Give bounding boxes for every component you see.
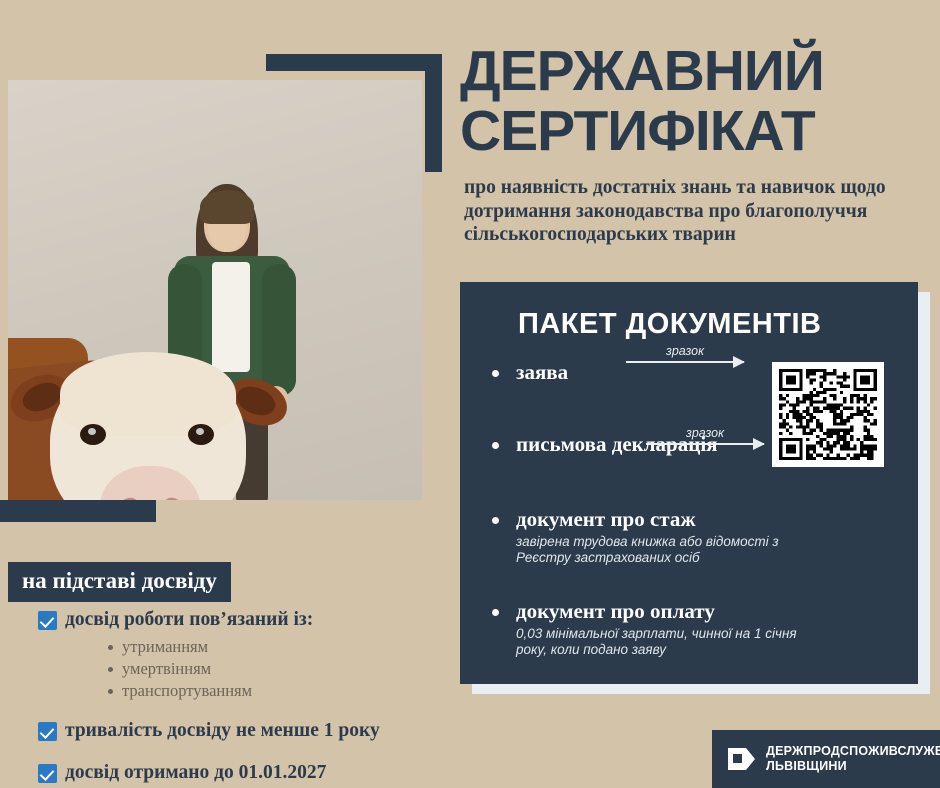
list-item: документ про оплату 0,03 мінімальної зар…	[482, 600, 900, 658]
qr-code[interactable]	[772, 362, 884, 467]
list-item: утриманням	[106, 637, 458, 657]
footer-logo-text: ДЕРЖПРОДСПОЖИВСЛУЖБА ЛЬВІВЩИНИ	[766, 744, 940, 775]
checkbox-checked-icon[interactable]	[38, 722, 57, 741]
document-note: завірена трудова книжка або відомості з …	[516, 534, 816, 567]
bullet-icon	[492, 370, 499, 377]
bullet-icon	[492, 517, 499, 524]
bullet-icon	[492, 609, 499, 616]
checklist-label: досвід отримано до 01.01.2027	[65, 761, 326, 784]
experience-heading: на підставі досвіду	[8, 562, 231, 602]
title-block: ДЕРЖАВНИЙ СЕРТИФІКАТ про наявність доста…	[460, 44, 922, 247]
checklist-item[interactable]: тривалість досвіду не менше 1 року	[38, 719, 458, 742]
sample-arrow-application: зразок	[626, 344, 744, 363]
hero-photo	[8, 80, 422, 500]
title-subtitle: про наявність достатніх знань та навичок…	[464, 176, 922, 247]
documents-heading: ПАКЕТ ДОКУМЕНТІВ	[518, 308, 900, 341]
arrow-head-icon	[733, 356, 745, 368]
photo-accent-bar	[0, 500, 156, 522]
footer-logo-bar: ДЕРЖПРОДСПОЖИВСЛУЖБА ЛЬВІВЩИНИ	[712, 730, 940, 788]
footer-logo-line-1: ДЕРЖПРОДСПОЖИВСЛУЖБА	[766, 744, 940, 759]
document-label: заява	[516, 361, 666, 385]
title-line-2: СЕРТИФІКАТ	[460, 104, 922, 160]
list-item: умертвінням	[106, 659, 458, 679]
woman-arm-right	[262, 264, 296, 396]
checklist-item[interactable]: досвід роботи пов’язаний із:	[38, 608, 458, 631]
qr-code-image	[779, 369, 877, 460]
checklist-label: досвід роботи пов’язаний із:	[65, 608, 313, 631]
bullet-icon	[492, 442, 499, 449]
title-line-1: ДЕРЖАВНИЙ	[460, 44, 922, 100]
checkbox-checked-icon[interactable]	[38, 764, 57, 783]
poster: ДЕРЖАВНИЙ СЕРТИФІКАТ про наявність доста…	[0, 0, 940, 788]
documents-panel: ПАКЕТ ДОКУМЕНТІВ заява письмова декларац…	[460, 282, 918, 684]
woman-jacket-opening	[212, 262, 250, 372]
arrow-shaft	[626, 361, 744, 363]
checklist-label: тривалість досвіду не менше 1 року	[65, 719, 380, 742]
list-item: транспортуванням	[106, 681, 458, 701]
cow-eye-right-highlight	[196, 428, 204, 435]
cow-forehead	[60, 352, 236, 436]
document-label: документ про стаж	[516, 507, 696, 531]
sample-arrow-declaration: зразок	[646, 426, 764, 445]
cow-eye-left-highlight	[88, 428, 96, 435]
experience-checklist: досвід роботи пов’язаний із: утриманням …	[38, 608, 458, 788]
experience-sub-list: утриманням умертвінням транспортуванням	[106, 637, 458, 701]
arrow-shaft	[646, 443, 764, 445]
derzhprodspozhyvsluzhba-logo-icon	[726, 746, 756, 772]
woman-hair-front	[200, 190, 254, 224]
document-note: 0,03 мінімальної зарплати, чинної на 1 с…	[516, 626, 816, 659]
checklist-item[interactable]: досвід отримано до 01.01.2027	[38, 761, 458, 784]
document-label: документ про оплату	[516, 599, 715, 623]
list-item: документ про стаж завірена трудова книжк…	[482, 508, 900, 566]
checkbox-checked-icon[interactable]	[38, 611, 57, 630]
sample-arrow-label: зразок	[646, 426, 764, 440]
sample-arrow-label: зразок	[626, 344, 744, 358]
footer-logo-line-2: ЛЬВІВЩИНИ	[766, 759, 940, 774]
arrow-head-icon	[753, 438, 765, 450]
